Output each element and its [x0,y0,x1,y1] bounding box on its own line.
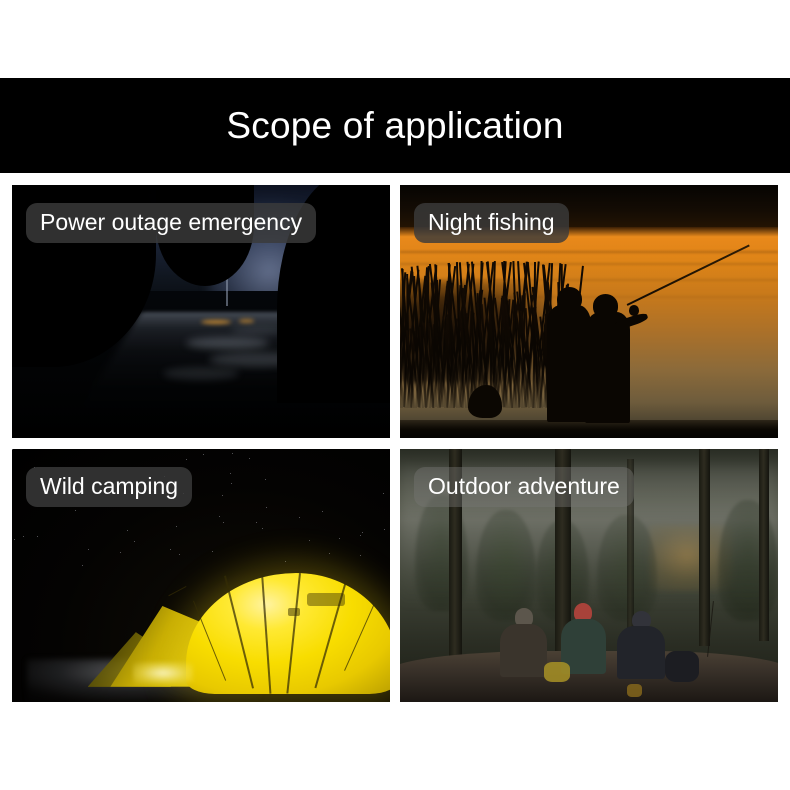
star [285,561,286,562]
backpack-dark [665,651,699,681]
star [179,554,180,555]
star [23,536,24,537]
backpack-yellow [544,662,570,682]
star [384,529,385,530]
water-ripple [400,251,778,253]
page-title: Scope of application [226,107,563,144]
star [249,458,250,459]
star [262,528,263,529]
star [134,541,135,542]
star [360,555,361,556]
road-reflection [163,367,239,380]
tree-trunk [759,449,769,641]
star [339,538,340,539]
scenario-panel-power-outage[interactable]: Power outage emergency [12,185,390,438]
star [329,553,330,554]
scenario-label-outdoor-adventure: Outdoor adventure [414,467,634,507]
scenario-panel-outdoor-adventure[interactable]: Outdoor adventure [400,449,778,702]
star [230,473,231,474]
star [203,454,204,455]
poster-root: Scope of application [0,0,790,790]
star [360,535,361,536]
star [266,507,267,508]
fishing-reel [629,305,639,316]
tent-door-glow [133,662,193,685]
star [231,483,232,484]
star [212,551,213,552]
star [362,532,363,533]
angler-right-body [585,312,630,423]
person-left-body [500,624,547,677]
scenario-panel-wild-camping[interactable]: Wild camping [12,449,390,702]
star [127,530,128,531]
scenario-label-power-outage: Power outage emergency [26,203,316,243]
distant-light [239,319,254,323]
scenario-label-wild-camping: Wild camping [26,467,192,507]
scenario-panel-night-fishing[interactable]: Night fishing [400,185,778,438]
star [222,495,223,496]
star [265,479,266,480]
star [383,493,384,494]
star [176,526,177,527]
header-banner: Scope of application [0,78,790,173]
star [170,549,171,550]
star [186,459,187,460]
application-scenarios-grid: Power outage emergency [12,185,778,712]
star [256,522,257,523]
star [232,453,233,454]
star [14,539,15,540]
shore-rock [468,385,502,418]
scenario-label-night-fishing: Night fishing [414,203,569,243]
person-right-body [617,626,664,679]
shore-bank [400,420,778,438]
star [309,540,310,541]
star [299,517,300,518]
star [219,516,220,517]
star [37,536,38,537]
gear-item [627,684,642,697]
tree-trunk [699,449,710,646]
star [75,510,76,511]
star [322,511,323,512]
star [223,522,224,523]
star [82,565,83,566]
star [120,552,121,553]
star [12,449,13,450]
star [88,549,89,550]
